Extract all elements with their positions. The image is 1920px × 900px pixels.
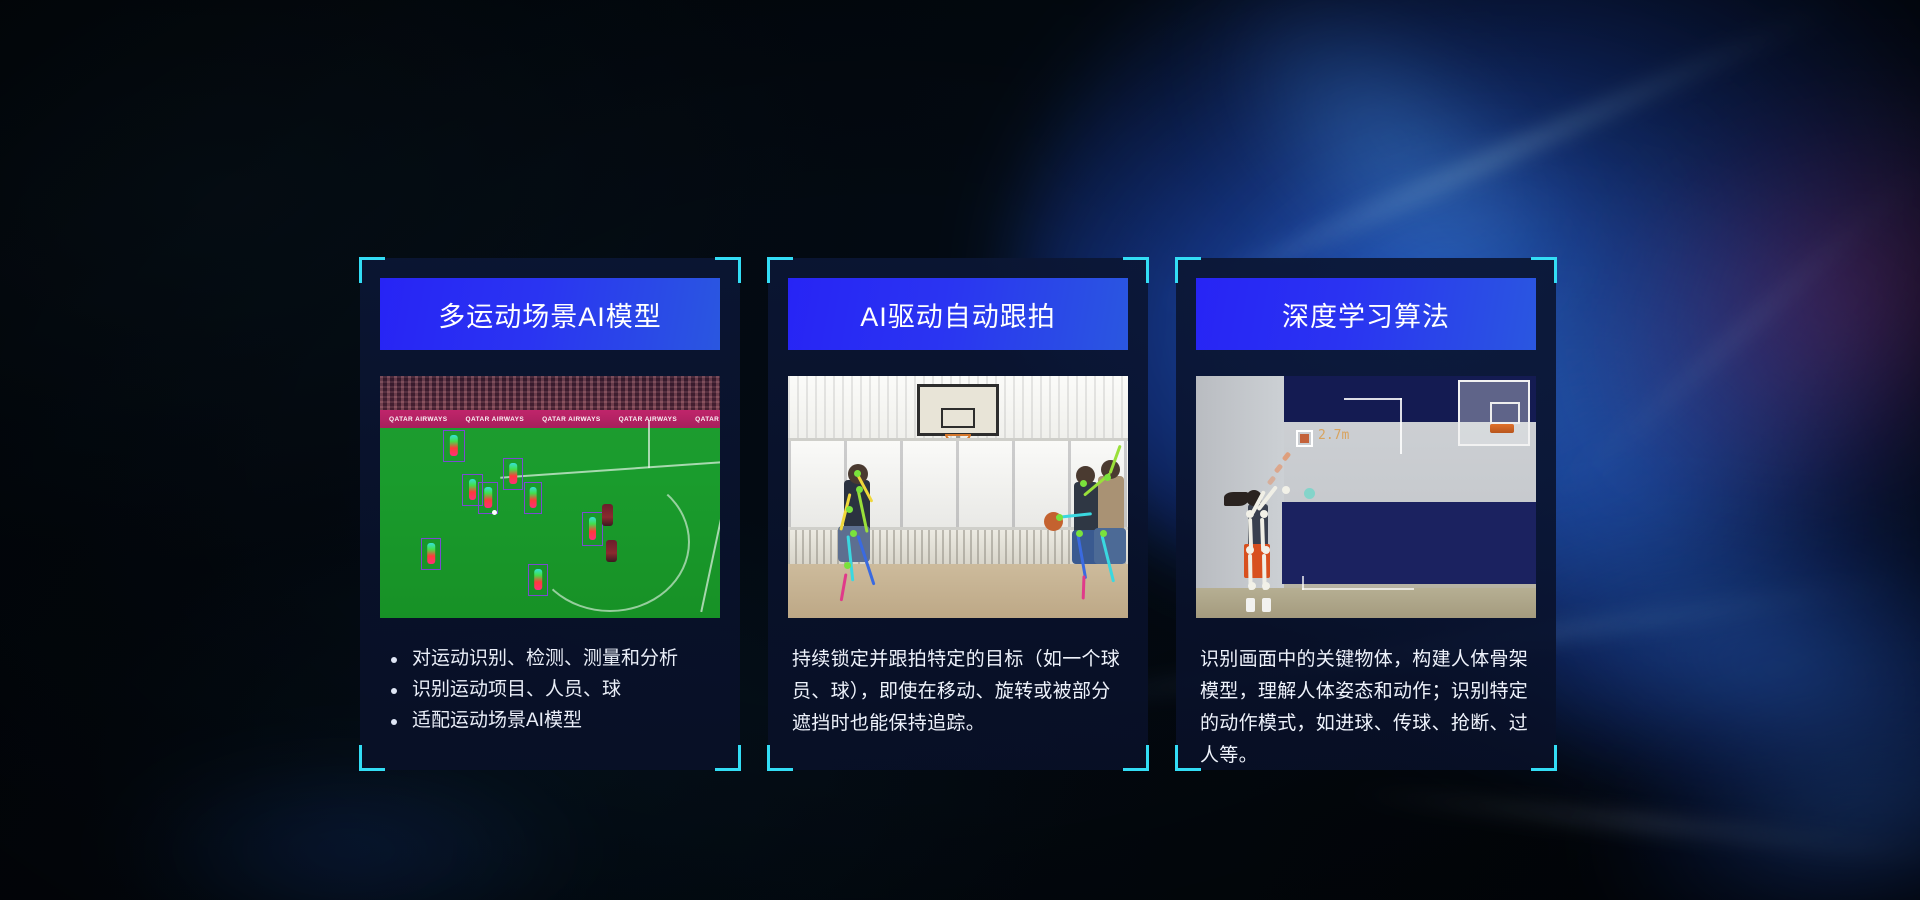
pitch-line-vertical: [648, 420, 650, 468]
pose-joint: [1104, 474, 1111, 481]
card-body-multi-sport-ai-model: 对运动识别、检测、测量和分析 识别运动项目、人员、球 适配运动场景AI模型: [380, 618, 720, 736]
pitch-line-side: [700, 426, 720, 612]
skeleton-joint: [1246, 510, 1254, 518]
ad-text: QATAR AIRWAYS: [457, 416, 534, 423]
court-measure-line: [1302, 588, 1414, 590]
skeleton-joint: [1248, 582, 1256, 590]
player-detection-box: [503, 458, 523, 490]
pose-joint: [854, 470, 861, 477]
card-title-multi-sport-ai-model: 多运动场景AI模型: [380, 278, 720, 350]
card-title-ai-auto-tracking: AI驱动自动跟拍: [788, 278, 1128, 350]
ad-text: QATAR AIRWAYS: [533, 416, 610, 423]
tracking-marker: [1304, 488, 1315, 499]
card-body-ai-auto-tracking: 持续锁定并跟拍特定的目标（如一个球员、球），即使在移动、旋转或被部分遮挡时也能保…: [788, 618, 1128, 740]
pose-joint: [1100, 530, 1107, 537]
basketball-backboard: [917, 384, 999, 436]
corner-bracket-bottom-left: [359, 745, 385, 771]
basketball-rim: [1490, 424, 1514, 433]
skeleton-joint: [1246, 546, 1254, 554]
list-item: 适配运动场景AI模型: [384, 706, 716, 737]
feature-card-deep-learning-algorithm[interactable]: 深度学习算法 2.7m: [1176, 258, 1556, 770]
court-wall-padding: [1282, 502, 1536, 584]
pose-joint: [850, 530, 857, 537]
card-title-deep-learning-algorithm: 深度学习算法: [1196, 278, 1536, 350]
ad-text: QATAR AIRWAYS: [686, 416, 720, 423]
corner-bracket-bottom-right: [1123, 745, 1149, 771]
height-measurement-label: 2.7m: [1318, 428, 1349, 443]
trajectory-path-vertical: [1400, 398, 1402, 454]
card-media-football-detection: QATAR AIRWAYS QATAR AIRWAYS QATAR AIRWAY…: [380, 376, 720, 618]
player-detection-box: [524, 482, 542, 514]
indoor-court-scene: 2.7m: [1196, 376, 1536, 618]
feature-description: 识别画面中的关键物体，构建人体骨架模型，理解人体姿态和动作；识别特定的动作模式，…: [1200, 644, 1532, 772]
card-media-gym-pose-estimation: [788, 376, 1128, 618]
player-detection-box: [528, 564, 548, 596]
pose-joint: [844, 562, 851, 569]
football-pitch: QATAR AIRWAYS QATAR AIRWAYS QATAR AIRWAY…: [380, 376, 720, 618]
card-body-deep-learning-algorithm: 识别画面中的关键物体，构建人体骨架模型，理解人体姿态和动作；识别特定的动作模式，…: [1196, 618, 1536, 772]
skeleton-joint: [1262, 546, 1270, 554]
corner-bracket-bottom-left: [767, 745, 793, 771]
ad-text: QATAR AIRWAYS: [380, 416, 457, 423]
skeleton-joint: [1282, 486, 1290, 494]
list-item: 识别运动项目、人员、球: [384, 675, 716, 706]
player-detection-box: [582, 512, 603, 546]
feature-description: 持续锁定并跟拍特定的目标（如一个球员、球），即使在移动、旋转或被部分遮挡时也能保…: [792, 644, 1124, 740]
pose-joint: [1076, 530, 1083, 537]
pose-joint: [1080, 480, 1087, 487]
pose-joint: [856, 486, 863, 493]
list-item: 对运动识别、检测、测量和分析: [384, 644, 716, 675]
backboard-inner-square: [1490, 402, 1520, 424]
undetected-player: [602, 504, 613, 526]
player-shoe: [1246, 598, 1255, 612]
pose-joint: [846, 506, 853, 513]
feature-card-multi-sport-ai-model[interactable]: 多运动场景AI模型 QATAR AIRWAYS QATAR AIRWAYS QA…: [360, 258, 740, 770]
player-detection-box: [443, 430, 465, 462]
player-shorts: [1094, 528, 1126, 564]
feature-bullet-list: 对运动识别、检测、测量和分析 识别运动项目、人员、球 适配运动场景AI模型: [384, 644, 716, 736]
gym-scene: [788, 376, 1128, 618]
ball: [492, 510, 497, 515]
pose-joint: [1056, 514, 1063, 521]
player-shoe: [1262, 598, 1271, 612]
corner-bracket-bottom-right: [715, 745, 741, 771]
skeleton-joint: [1260, 510, 1268, 518]
backboard-inner-square: [941, 408, 975, 428]
undetected-player: [606, 540, 617, 562]
skeleton-joint: [1262, 582, 1270, 590]
card-media-shot-trajectory: 2.7m: [1196, 376, 1536, 618]
trajectory-path-top: [1344, 398, 1402, 400]
gym-floor: [788, 564, 1128, 618]
feature-card-row: 多运动场景AI模型 QATAR AIRWAYS QATAR AIRWAYS QA…: [360, 258, 1556, 770]
ball-detection-box: [1296, 430, 1313, 447]
advertising-board: QATAR AIRWAYS QATAR AIRWAYS QATAR AIRWAY…: [380, 410, 720, 428]
feature-card-ai-auto-tracking[interactable]: AI驱动自动跟拍: [768, 258, 1148, 770]
player-hair: [1224, 492, 1248, 506]
player-torso: [1098, 476, 1124, 534]
player-detection-box: [421, 538, 441, 570]
